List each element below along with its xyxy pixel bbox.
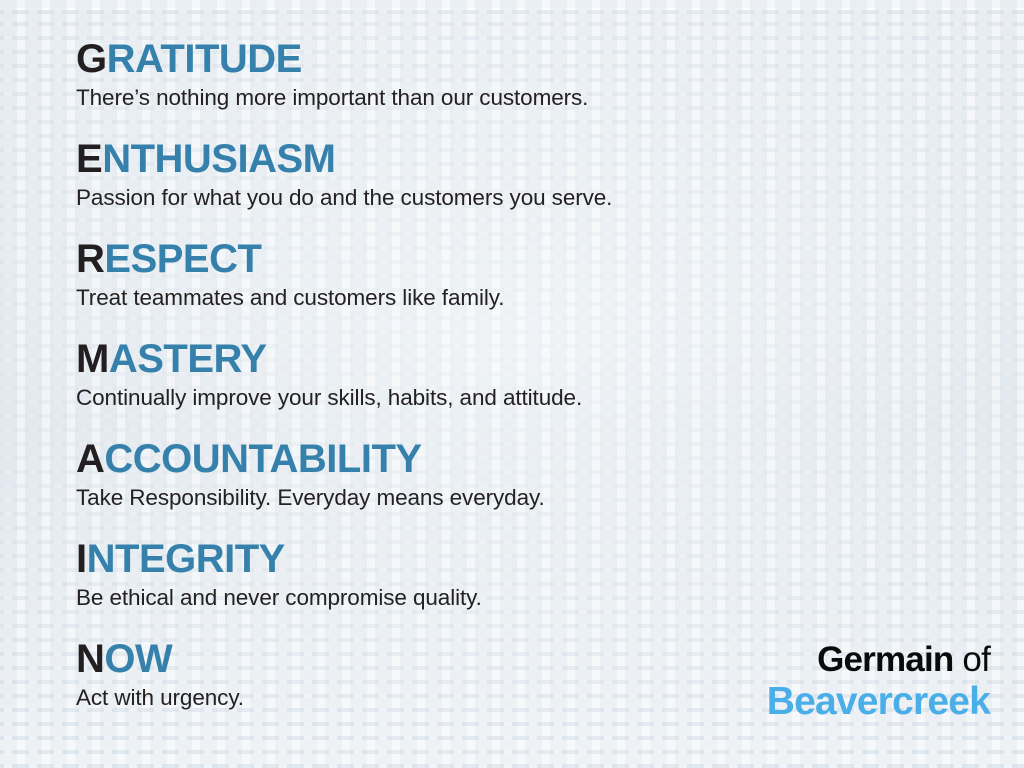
- brand-logo-line-one: Germain of: [767, 641, 990, 679]
- value-description-integrity: Be ethical and never compromise quality.: [76, 583, 1016, 613]
- value-remaining-letters: NTHUSIASM: [102, 137, 335, 181]
- value-heading-enthusiasm: ENTHUSIASM: [76, 136, 1016, 182]
- value-heading-integrity: INTEGRITY: [76, 536, 1016, 582]
- brand-location-text: Beavercreek: [767, 681, 990, 723]
- value-description-accountability: Take Responsibility. Everyday means ever…: [76, 483, 1016, 513]
- value-initial-letter: I: [76, 537, 87, 581]
- value-remaining-letters: OW: [104, 637, 172, 681]
- value-remaining-letters: NTEGRITY: [87, 537, 285, 581]
- value-initial-letter: R: [76, 237, 104, 281]
- brand-connector-text: of: [962, 640, 990, 679]
- value-remaining-letters: ASTERY: [109, 337, 267, 381]
- value-description-enthusiasm: Passion for what you do and the customer…: [76, 183, 1016, 213]
- value-entry-respect: RESPECT Treat teammates and customers li…: [76, 236, 1016, 336]
- value-remaining-letters: RATITUDE: [107, 37, 302, 81]
- value-entry-integrity: INTEGRITY Be ethical and never compromis…: [76, 536, 1016, 636]
- value-remaining-letters: ESPECT: [104, 237, 261, 281]
- brand-name-text: Germain: [817, 640, 953, 679]
- value-initial-letter: A: [76, 437, 104, 481]
- brand-logo: Germain of Beavercreek: [767, 641, 990, 723]
- value-initial-letter: M: [76, 337, 109, 381]
- value-heading-gratitude: GRATITUDE: [76, 36, 1016, 82]
- core-values-list: GRATITUDE There’s nothing more important…: [76, 36, 1016, 736]
- value-heading-respect: RESPECT: [76, 236, 1016, 282]
- value-entry-mastery: MASTERY Continually improve your skills,…: [76, 336, 1016, 436]
- value-initial-letter: G: [76, 37, 107, 81]
- value-initial-letter: N: [76, 637, 104, 681]
- value-entry-gratitude: GRATITUDE There’s nothing more important…: [76, 36, 1016, 136]
- value-initial-letter: E: [76, 137, 102, 181]
- value-description-mastery: Continually improve your skills, habits,…: [76, 383, 1016, 413]
- value-heading-mastery: MASTERY: [76, 336, 1016, 382]
- value-entry-enthusiasm: ENTHUSIASM Passion for what you do and t…: [76, 136, 1016, 236]
- value-description-gratitude: There’s nothing more important than our …: [76, 83, 1016, 113]
- value-entry-accountability: ACCOUNTABILITY Take Responsibility. Ever…: [76, 436, 1016, 536]
- value-heading-accountability: ACCOUNTABILITY: [76, 436, 1016, 482]
- value-description-respect: Treat teammates and customers like famil…: [76, 283, 1016, 313]
- value-remaining-letters: CCOUNTABILITY: [104, 437, 421, 481]
